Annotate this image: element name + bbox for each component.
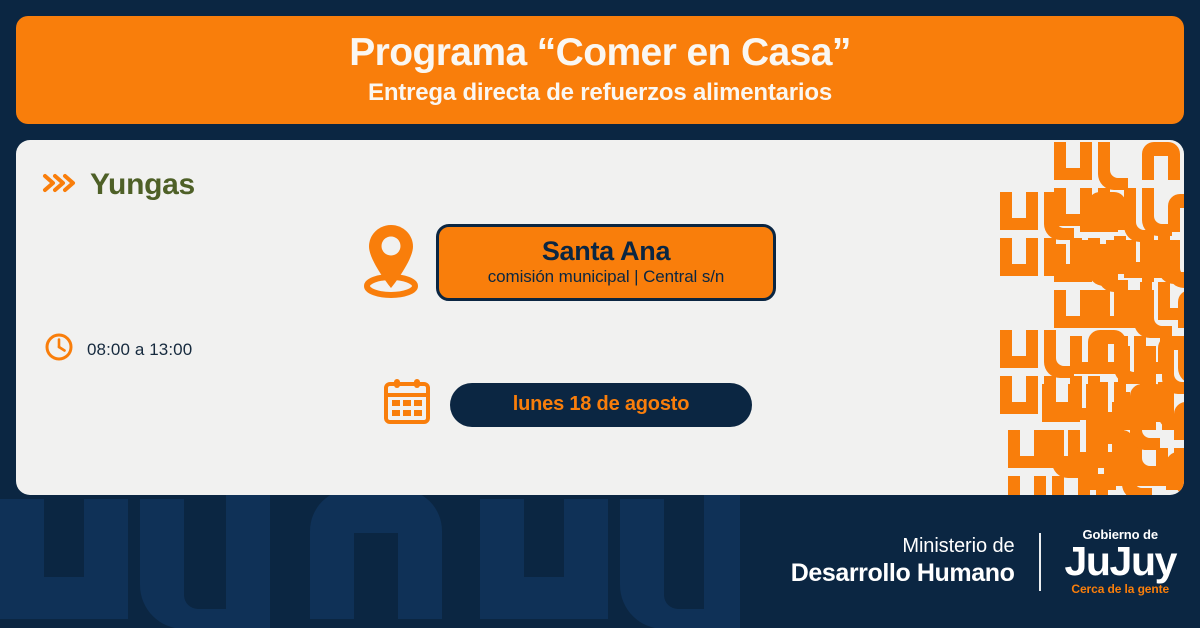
ministry-line1: Ministerio de <box>791 535 1015 558</box>
location-row: Santa Ana comisión municipal | Central s… <box>362 222 776 303</box>
footer: Ministerio de Desarrollo Humano Gobierno… <box>0 495 1200 628</box>
map-pin-icon <box>362 222 420 303</box>
location-pill[interactable]: Santa Ana comisión municipal | Central s… <box>436 224 776 302</box>
date-value: lunes 18 de agosto <box>513 393 689 416</box>
info-card: Yungas Santa Ana comisión municipal | Ce… <box>16 140 1184 495</box>
jujuy-tagline: Cerca de la gente <box>1065 583 1177 595</box>
region-name: Yungas <box>90 168 195 202</box>
brand-divider <box>1039 533 1041 591</box>
page-subtitle: Entrega directa de refuerzos alimentario… <box>368 79 832 107</box>
page-title: Programa “Comer en Casa” <box>349 33 850 74</box>
region-row: Yungas <box>42 168 195 202</box>
jujuy-glyph-pattern-icon <box>984 140 1184 495</box>
jujuy-glyph-watermark-icon <box>0 495 740 628</box>
footer-brands: Ministerio de Desarrollo Humano Gobierno… <box>791 495 1176 628</box>
time-value: 08:00 a 13:00 <box>87 340 192 360</box>
time-row: 08:00 a 13:00 <box>44 332 192 367</box>
clock-icon <box>44 332 74 367</box>
poster-root: Programa “Comer en Casa” Entrega directa… <box>0 0 1200 628</box>
jujuy-wordmark: JuJuy <box>1065 542 1177 581</box>
calendar-icon <box>382 378 432 431</box>
date-row: lunes 18 de agosto <box>382 378 752 431</box>
ministry-line2: Desarrollo Humano <box>791 559 1015 588</box>
ministry-logo: Ministerio de Desarrollo Humano <box>791 535 1039 588</box>
gobierno-jujuy-logo: Gobierno de JuJuy Cerca de la gente <box>1041 528 1177 595</box>
location-title: Santa Ana <box>463 236 749 266</box>
triple-chevron-right-icon <box>42 172 76 199</box>
location-subtitle: comisión municipal | Central s/n <box>463 267 749 287</box>
date-pill[interactable]: lunes 18 de agosto <box>450 383 752 427</box>
header-banner: Programa “Comer en Casa” Entrega directa… <box>16 16 1184 124</box>
